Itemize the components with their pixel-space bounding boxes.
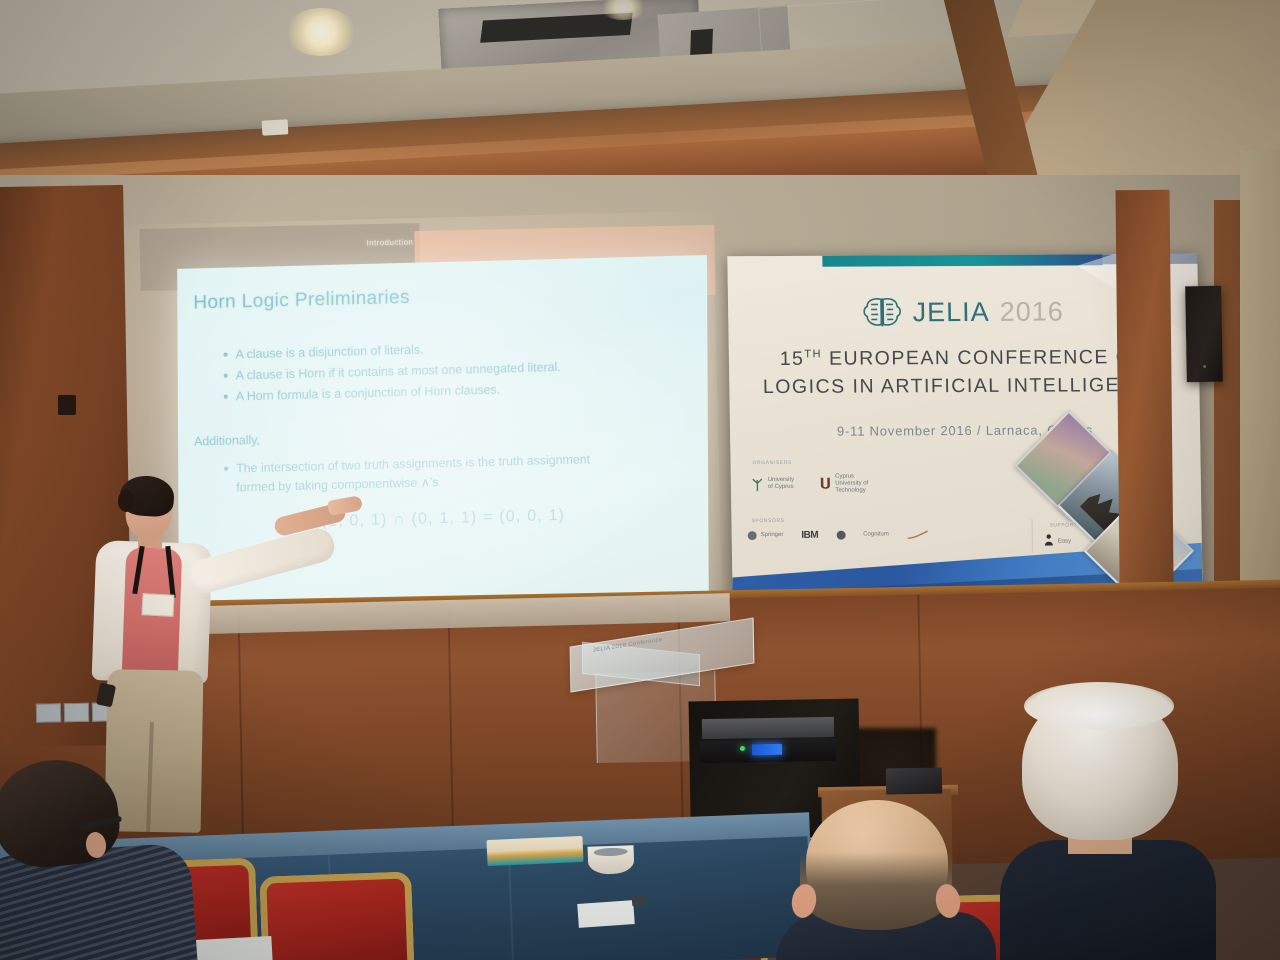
slide-section-header: Introduction (340, 237, 440, 255)
table-tray (486, 836, 583, 866)
university-of-cyprus-icon (751, 477, 764, 492)
smoke-detector (262, 119, 289, 135)
jelia-logo-year: 2016 (999, 296, 1064, 327)
audience-member-front-right-bald (786, 800, 976, 960)
presenter-hair-bun (118, 490, 134, 512)
easy-conferences-icon (1044, 533, 1054, 551)
slide-bullet-list: A clause is a disjunction of literals. A… (222, 334, 682, 410)
cyprus-university-of-technology-icon (820, 477, 831, 492)
supporter-name: Easy (1058, 538, 1071, 545)
av-unit-top (702, 717, 834, 739)
slide-title: Horn Logic Preliminaries (193, 287, 410, 315)
banner-sponsors-row: Springer IBM Cognitum (748, 529, 929, 541)
sponsor-logo-extra (907, 530, 929, 540)
banner-organisers-label: ORGANISERS (752, 460, 791, 466)
organiser-line2: of Cyprus (768, 484, 794, 490)
av-power-led-icon (740, 746, 745, 751)
organiser-line1: Cyprus (835, 474, 854, 480)
av-led-display (752, 744, 782, 756)
sponsor-logo-springer: Springer (748, 531, 784, 540)
sponsor-logo-ibm: IBM (801, 530, 818, 541)
audience-member-front-right-white-hair (1004, 690, 1204, 960)
organiser-line2: University of (835, 480, 868, 486)
presenter-name-badge (141, 593, 174, 617)
organiser-line1: University (768, 477, 794, 483)
sponsor-name: Springer (761, 532, 784, 539)
swoosh-icon (907, 530, 929, 540)
power-socket (36, 703, 61, 722)
organiser-logo-university-of-cyprus: University of Cyprus (751, 477, 795, 492)
springer-icon (748, 531, 757, 540)
banner-heading-number: 15 (780, 348, 805, 370)
organiser-line3: Technology (835, 487, 865, 493)
supporter-logo-easyconferences: Easy (1044, 532, 1072, 550)
chair (266, 878, 407, 960)
organiser-logo-cyprus-university-of-technology: Cyprus University of Technology (820, 474, 868, 495)
banner-heading-ordinal: TH (804, 348, 822, 360)
chair-frame (259, 871, 414, 960)
banner-sponsors-label: SPONSORS (751, 518, 784, 524)
organiser-name: University of Cyprus (768, 477, 795, 491)
presenter-arm (184, 525, 338, 597)
table-microphone (632, 896, 647, 907)
conference-room-photo: Introduction Horn Logic Preliminaries A … (0, 0, 1280, 960)
paper-sheet (577, 900, 635, 928)
wall-mounted-speaker (1185, 286, 1223, 383)
banner-heading-rest: EUROPEAN CONFERENCE ON (822, 346, 1148, 370)
wall-fixture-icon (58, 395, 76, 415)
banner-top-stripe (822, 254, 1102, 267)
organiser-name: Cyprus University of Technology (835, 474, 868, 495)
audience-member-front-left (0, 760, 210, 960)
sponsor-logo-generic-icon (836, 531, 845, 540)
audience-torso (1000, 840, 1216, 960)
audience-hair (800, 852, 952, 930)
banner-supporters-row: Easy (1044, 532, 1072, 550)
ceiling-downlight (285, 8, 357, 56)
slide-additionally-label: Additionally, (194, 433, 260, 449)
sponsor-logo-cognitum: Cognitum (863, 531, 889, 538)
jelia-logo-text: JELIA (912, 296, 990, 327)
audience-hair-highlight (1024, 682, 1174, 730)
equipment-box (886, 768, 942, 795)
banner-divider (1031, 519, 1033, 553)
presenter-pointing-hand (327, 495, 363, 516)
brain-icon (862, 295, 903, 329)
sponsor-name: Cognitum (863, 531, 889, 538)
banner-organisers-row: University of Cyprus Cyprus University o… (751, 474, 869, 495)
